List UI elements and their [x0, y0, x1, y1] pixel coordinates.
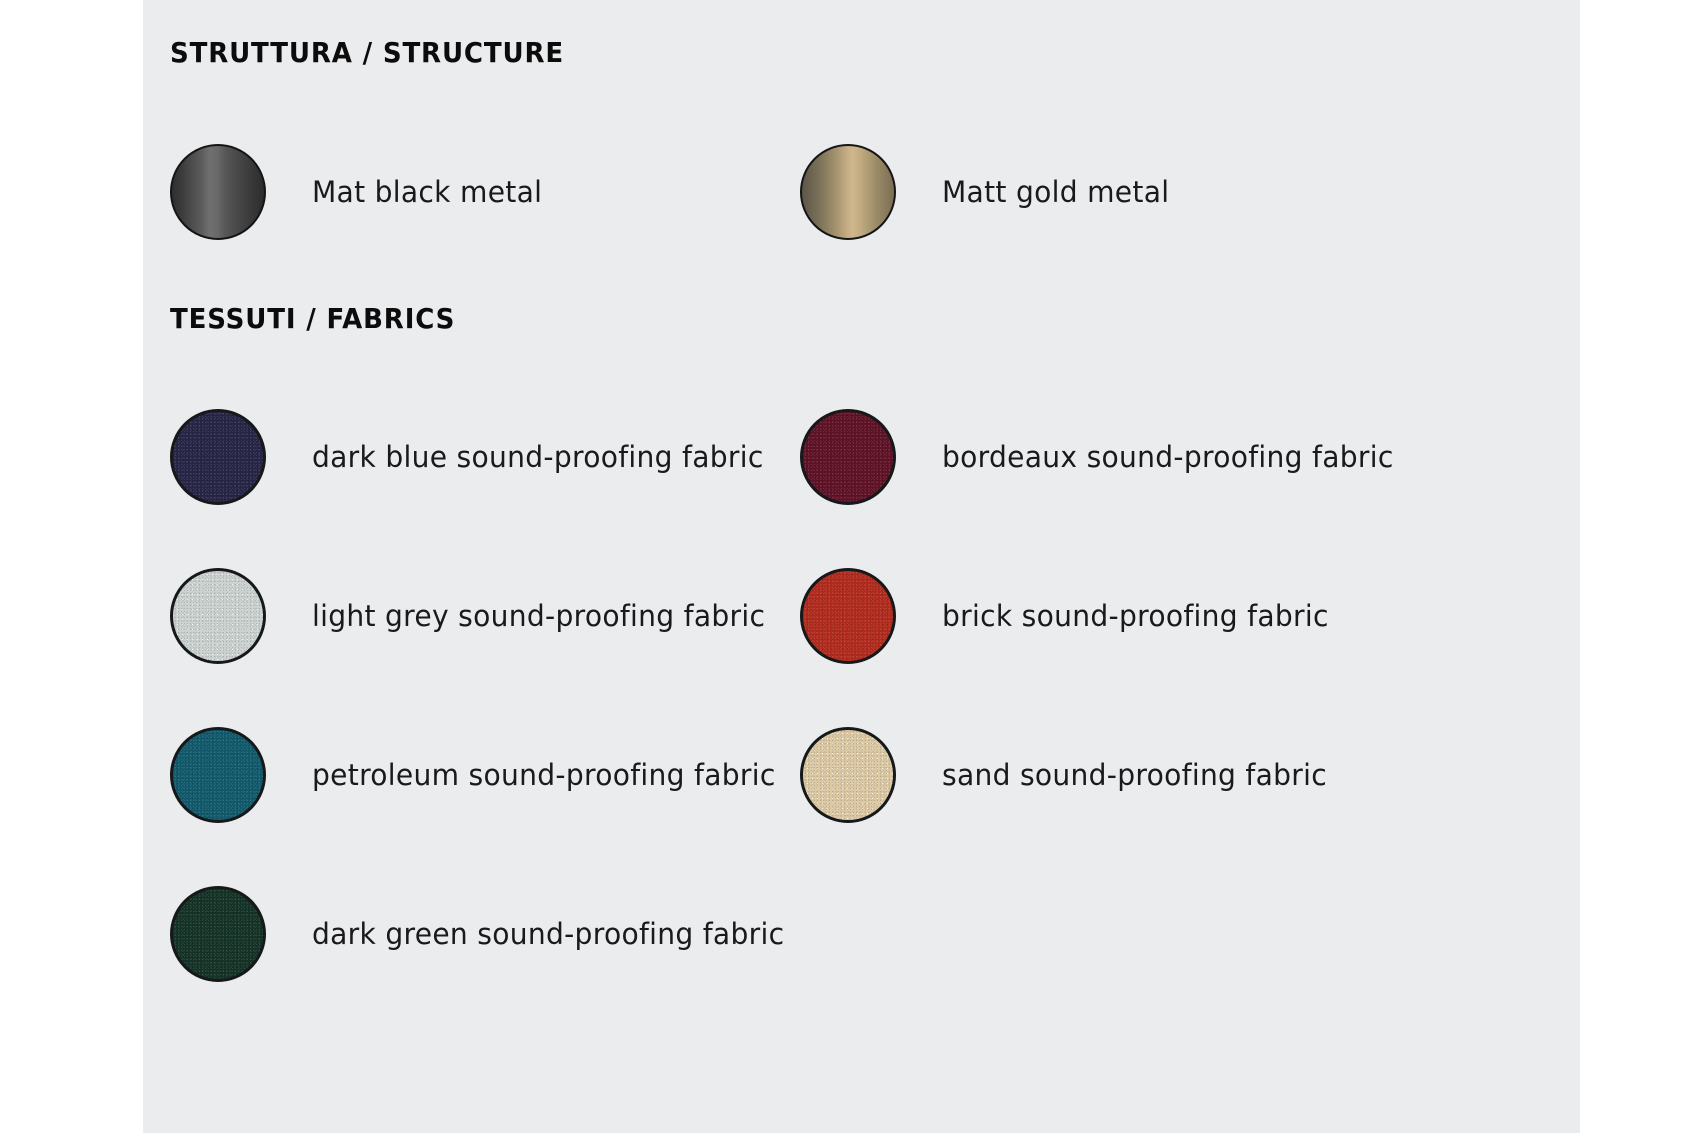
swatch-row-dark-green-fabric[interactable]: dark green sound-proofing fabric	[170, 882, 799, 986]
matt-gold-metal-swatch[interactable]	[800, 144, 896, 240]
swatch-label-matt-gold-metal: Matt gold metal	[942, 175, 1169, 209]
swatch-label-light-grey-fabric: light grey sound-proofing fabric	[312, 599, 765, 633]
light-grey-fabric-swatch[interactable]	[170, 568, 266, 664]
swatch-label-dark-blue-fabric: dark blue sound-proofing fabric	[312, 440, 764, 474]
dark-blue-fabric-swatch[interactable]	[170, 409, 266, 505]
materials-legend-page: STRUTTURA / STRUCTURE Mat black metal Ma…	[0, 0, 1700, 1133]
swatch-label-mat-black-metal: Mat black metal	[312, 175, 542, 209]
swatch-label-petroleum-fabric: petroleum sound-proofing fabric	[312, 758, 776, 792]
swatch-label-bordeaux-fabric: bordeaux sound-proofing fabric	[942, 440, 1394, 474]
mat-black-metal-swatch[interactable]	[170, 144, 266, 240]
swatch-label-brick-fabric: brick sound-proofing fabric	[942, 599, 1329, 633]
swatch-row-dark-blue-fabric[interactable]: dark blue sound-proofing fabric	[170, 405, 778, 509]
bordeaux-fabric-swatch[interactable]	[800, 409, 896, 505]
section-heading-structure: STRUTTURA / STRUCTURE	[170, 36, 564, 69]
swatch-row-bordeaux-fabric[interactable]: bordeaux sound-proofing fabric	[800, 405, 1408, 509]
swatch-label-sand-fabric: sand sound-proofing fabric	[942, 758, 1327, 792]
section-heading-fabrics: TESSUTI / FABRICS	[170, 302, 455, 335]
brick-fabric-swatch[interactable]	[800, 568, 896, 664]
swatch-row-brick-fabric[interactable]: brick sound-proofing fabric	[800, 564, 1341, 668]
swatch-row-petroleum-fabric[interactable]: petroleum sound-proofing fabric	[170, 723, 790, 827]
swatch-row-sand-fabric[interactable]: sand sound-proofing fabric	[800, 723, 1339, 827]
content-panel: STRUTTURA / STRUCTURE Mat black metal Ma…	[143, 0, 1580, 1133]
swatch-row-matt-gold-metal[interactable]: Matt gold metal	[800, 140, 1176, 244]
swatch-row-light-grey-fabric[interactable]: light grey sound-proofing fabric	[170, 564, 779, 668]
swatch-row-mat-black-metal[interactable]: Mat black metal	[170, 140, 549, 244]
dark-green-fabric-swatch[interactable]	[170, 886, 266, 982]
swatch-label-dark-green-fabric: dark green sound-proofing fabric	[312, 917, 784, 951]
sand-fabric-swatch[interactable]	[800, 727, 896, 823]
petroleum-fabric-swatch[interactable]	[170, 727, 266, 823]
